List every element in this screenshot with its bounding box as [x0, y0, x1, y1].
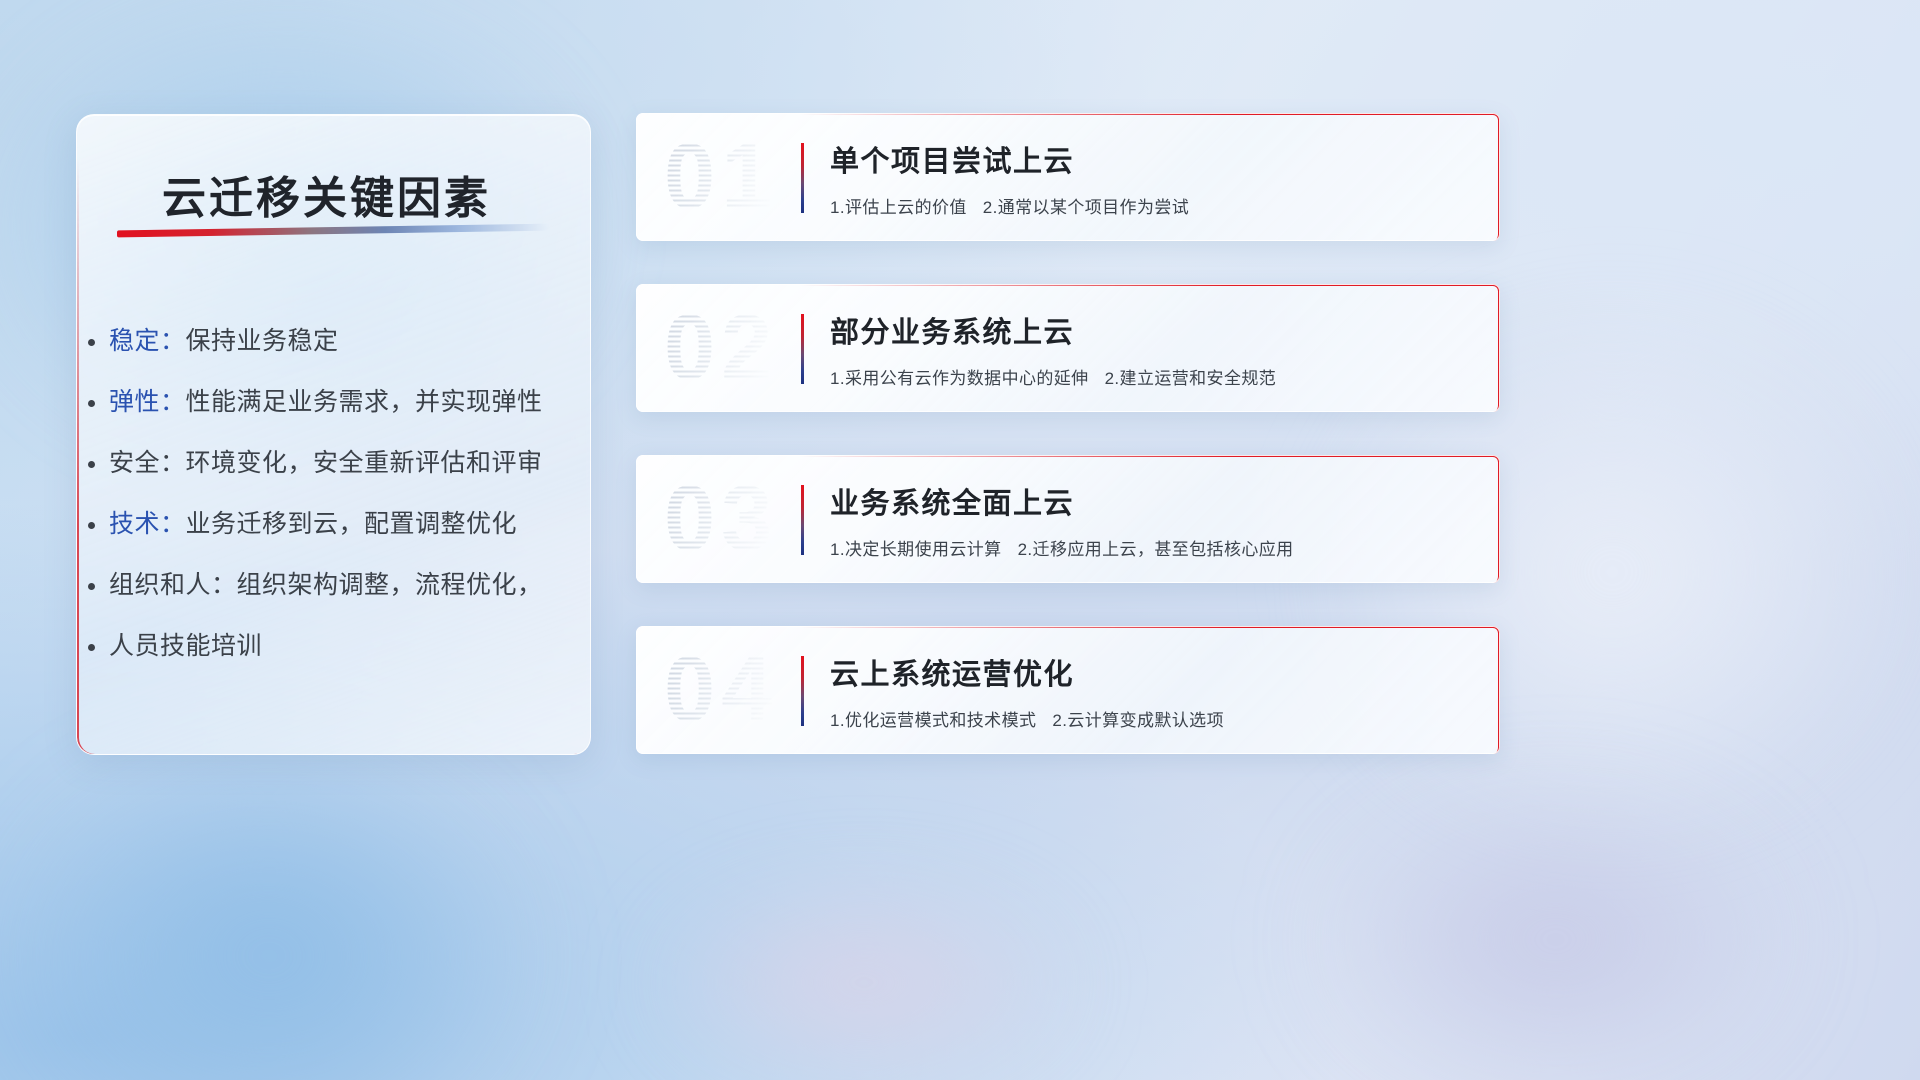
panel-title: 云迁移关键因素: [162, 162, 491, 226]
stage-description-part-2: 2.通常以某个项目作为尝试: [983, 198, 1189, 217]
stage-title: 单个项目尝试上云: [830, 138, 1476, 180]
key-factor-item: 人员技能培训: [109, 616, 579, 677]
stage-card[interactable]: 02部分业务系统上云1.采用公有云作为数据中心的延伸2.建立运营和安全规范: [636, 284, 1500, 412]
stage-title: 业务系统全面上云: [830, 480, 1476, 522]
stage-description-part-1: 1.优化运营模式和技术模式: [830, 711, 1036, 730]
stage-card-body: 部分业务系统上云1.采用公有云作为数据中心的延伸2.建立运营和安全规范: [830, 309, 1476, 389]
stage-description-part-2: 2.迁移应用上云，甚至包括核心应用: [1018, 540, 1294, 559]
key-factor-text: 环境变化，安全重新评估和评审: [186, 449, 543, 477]
key-factors-panel: 云迁移关键因素 稳定：保持业务稳定弹性：性能满足业务需求，并实现弹性安全：环境变…: [76, 114, 591, 755]
stage-divider-gradient: [801, 314, 804, 384]
stage-card-body: 单个项目尝试上云1.评估上云的价值2.通常以某个项目作为尝试: [830, 138, 1476, 218]
stage-divider-gradient: [801, 143, 804, 213]
stage-title: 部分业务系统上云: [830, 309, 1476, 351]
key-factor-label: 技术：: [109, 510, 186, 538]
stage-card[interactable]: 03业务系统全面上云1.决定长期使用云计算2.迁移应用上云，甚至包括核心应用: [636, 455, 1500, 583]
key-factor-label: 弹性：: [109, 388, 186, 416]
key-factor-text: 业务迁移到云，配置调整优化: [186, 510, 518, 538]
key-factor-item: 组织和人：组织架构调整，流程优化，: [109, 555, 579, 616]
key-factor-item: 弹性：性能满足业务需求，并实现弹性: [109, 372, 579, 433]
key-factor-text: 组织架构调整，流程优化，: [237, 571, 543, 599]
key-factor-item: 安全：环境变化，安全重新评估和评审: [109, 433, 579, 494]
key-factor-label: 组织和人：: [109, 571, 237, 599]
key-factor-text: 人员技能培训: [109, 632, 262, 660]
stage-card[interactable]: 04云上系统运营优化1.优化运营模式和技术模式2.云计算变成默认选项: [636, 626, 1500, 754]
stage-description: 1.采用公有云作为数据中心的延伸2.建立运营和安全规范: [830, 364, 1476, 389]
stage-card-body: 业务系统全面上云1.决定长期使用云计算2.迁移应用上云，甚至包括核心应用: [830, 480, 1476, 560]
cloud-migration-stages-list: 01单个项目尝试上云1.评估上云的价值2.通常以某个项目作为尝试02部分业务系统…: [636, 113, 1500, 797]
stage-number-watermark: 03: [664, 467, 778, 572]
stage-title: 云上系统运营优化: [830, 651, 1476, 693]
stage-description-part-1: 1.决定长期使用云计算: [830, 540, 1002, 559]
stage-description-part-2: 2.云计算变成默认选项: [1052, 711, 1224, 730]
key-factor-label: 稳定：: [109, 327, 186, 355]
stage-description-part-1: 1.评估上云的价值: [830, 198, 967, 217]
stage-number-watermark: 02: [664, 296, 778, 401]
key-factor-item: 技术：业务迁移到云，配置调整优化: [109, 494, 579, 555]
stage-number-watermark: 01: [664, 125, 778, 230]
key-factor-text: 性能满足业务需求，并实现弹性: [186, 388, 543, 416]
stage-description: 1.优化运营模式和技术模式2.云计算变成默认选项: [830, 706, 1476, 731]
stage-card[interactable]: 01单个项目尝试上云1.评估上云的价值2.通常以某个项目作为尝试: [636, 113, 1500, 241]
stage-description-part-1: 1.采用公有云作为数据中心的延伸: [830, 369, 1089, 388]
stage-card-body: 云上系统运营优化1.优化运营模式和技术模式2.云计算变成默认选项: [830, 651, 1476, 731]
stage-number-watermark: 04: [664, 638, 778, 743]
background-glow-bottom-center: [576, 842, 1152, 1080]
stage-description: 1.决定长期使用云计算2.迁移应用上云，甚至包括核心应用: [830, 535, 1476, 560]
key-factor-label: 安全：: [109, 449, 186, 477]
key-factors-list: 稳定：保持业务稳定弹性：性能满足业务需求，并实现弹性安全：环境变化，安全重新评估…: [109, 311, 579, 677]
key-factor-item: 稳定：保持业务稳定: [109, 311, 579, 372]
stage-description-part-2: 2.建立运营和安全规范: [1105, 369, 1277, 388]
stage-divider-gradient: [801, 656, 804, 726]
stage-description: 1.评估上云的价值2.通常以某个项目作为尝试: [830, 193, 1476, 218]
key-factor-text: 保持业务稳定: [186, 327, 339, 355]
stage-divider-gradient: [801, 485, 804, 555]
